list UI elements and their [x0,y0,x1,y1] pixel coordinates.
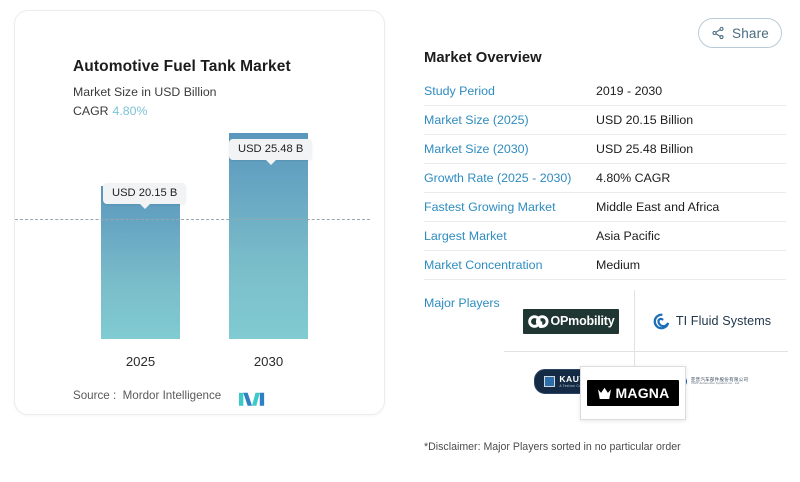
table-row: Fastest Growing Market Middle East and A… [424,193,786,222]
reference-dashed-line [15,219,370,220]
bar-label-2025: USD 20.15 B [103,183,186,204]
magna-crown-icon [597,386,612,401]
table-row: Market Size (2030) USD 25.48 Billion [424,135,786,164]
row-value: USD 20.15 Billion [596,113,693,127]
share-nodes-icon [711,26,725,40]
kautex-mark-icon [544,376,555,387]
table-row: Largest Market Asia Pacific [424,222,786,251]
table-row: Growth Rate (2025 - 2030) 4.80% CAGR [424,164,786,193]
ti-wordmark: TI Fluid Systems [676,314,771,328]
bar-chart-plot: USD 20.15 B USD 25.48 B 2025 2030 [15,131,385,381]
chart-title: Automotive Fuel Tank Market [73,58,291,76]
row-value: 2019 - 2030 [596,84,662,98]
player-cell-magna[interactable]: MAGNA [580,366,686,420]
table-row: Study Period 2019 - 2030 [424,77,786,106]
overview-title: Market Overview [424,50,786,66]
row-value: Middle East and Africa [596,200,719,214]
share-button[interactable]: Share [698,18,782,48]
mordor-intelligence-logo [239,390,265,406]
ti-swirl-icon [653,313,670,330]
chart-cagr: CAGR4.80% [73,104,147,118]
magna-logo: MAGNA [587,380,679,406]
source-name: Mordor Intelligence [123,389,222,402]
opmobility-wordmark: OPmobility [551,314,615,328]
share-button-label: Share [732,26,769,41]
opmobility-logo: OPmobility [523,309,619,334]
source-label: Source : [73,389,116,402]
table-row: Market Size (2025) USD 20.15 Billion [424,106,786,135]
yapp-wordmark-en: YAPP Automotive Systems Co., Ltd [691,382,749,385]
cagr-label: CAGR [73,104,109,118]
chart-card: Automotive Fuel Tank Market Market Size … [14,10,385,415]
row-value: Asia Pacific [596,229,660,243]
row-value: Medium [596,258,640,272]
source-attribution: Source : Mordor Intelligence [73,389,221,402]
x-axis-label-2025: 2025 [101,354,180,369]
row-key: Fastest Growing Market [424,200,596,214]
market-overview-panel: Market Overview Study Period 2019 - 2030… [424,50,786,310]
row-key: Market Concentration [424,258,596,272]
disclaimer-text: *Disclaimer: Major Players sorted in no … [424,441,681,453]
opmobility-mark-icon [528,314,550,329]
ti-fluid-systems-logo: TI Fluid Systems [653,313,771,330]
yapp-logo: 亚普汽车部件股份有限公司 YAPP Automotive Systems Co.… [676,376,749,387]
chart-subtitle: Market Size in USD Billion [73,85,217,99]
row-key: Growth Rate (2025 - 2030) [424,171,596,185]
magna-wordmark: MAGNA [616,385,670,401]
row-key: Market Size (2030) [424,142,596,156]
row-value: 4.80% CAGR [596,171,670,185]
market-summary-page: Share Automotive Fuel Tank Market Market… [0,0,800,482]
cagr-value: 4.80% [113,104,148,118]
row-key: Market Size (2025) [424,113,596,127]
x-axis-label-2030: 2030 [229,354,308,369]
player-cell-opmobility[interactable]: OPmobility [512,292,630,350]
row-key: Study Period [424,84,596,98]
bar-label-2030: USD 25.48 B [229,139,312,160]
player-cell-ti-fluid-systems[interactable]: TI Fluid Systems [642,292,782,350]
row-key: Largest Market [424,229,596,243]
grid-divider-horizontal [504,351,788,352]
table-row: Market Concentration Medium [424,251,786,280]
row-value: USD 25.48 Billion [596,142,693,156]
